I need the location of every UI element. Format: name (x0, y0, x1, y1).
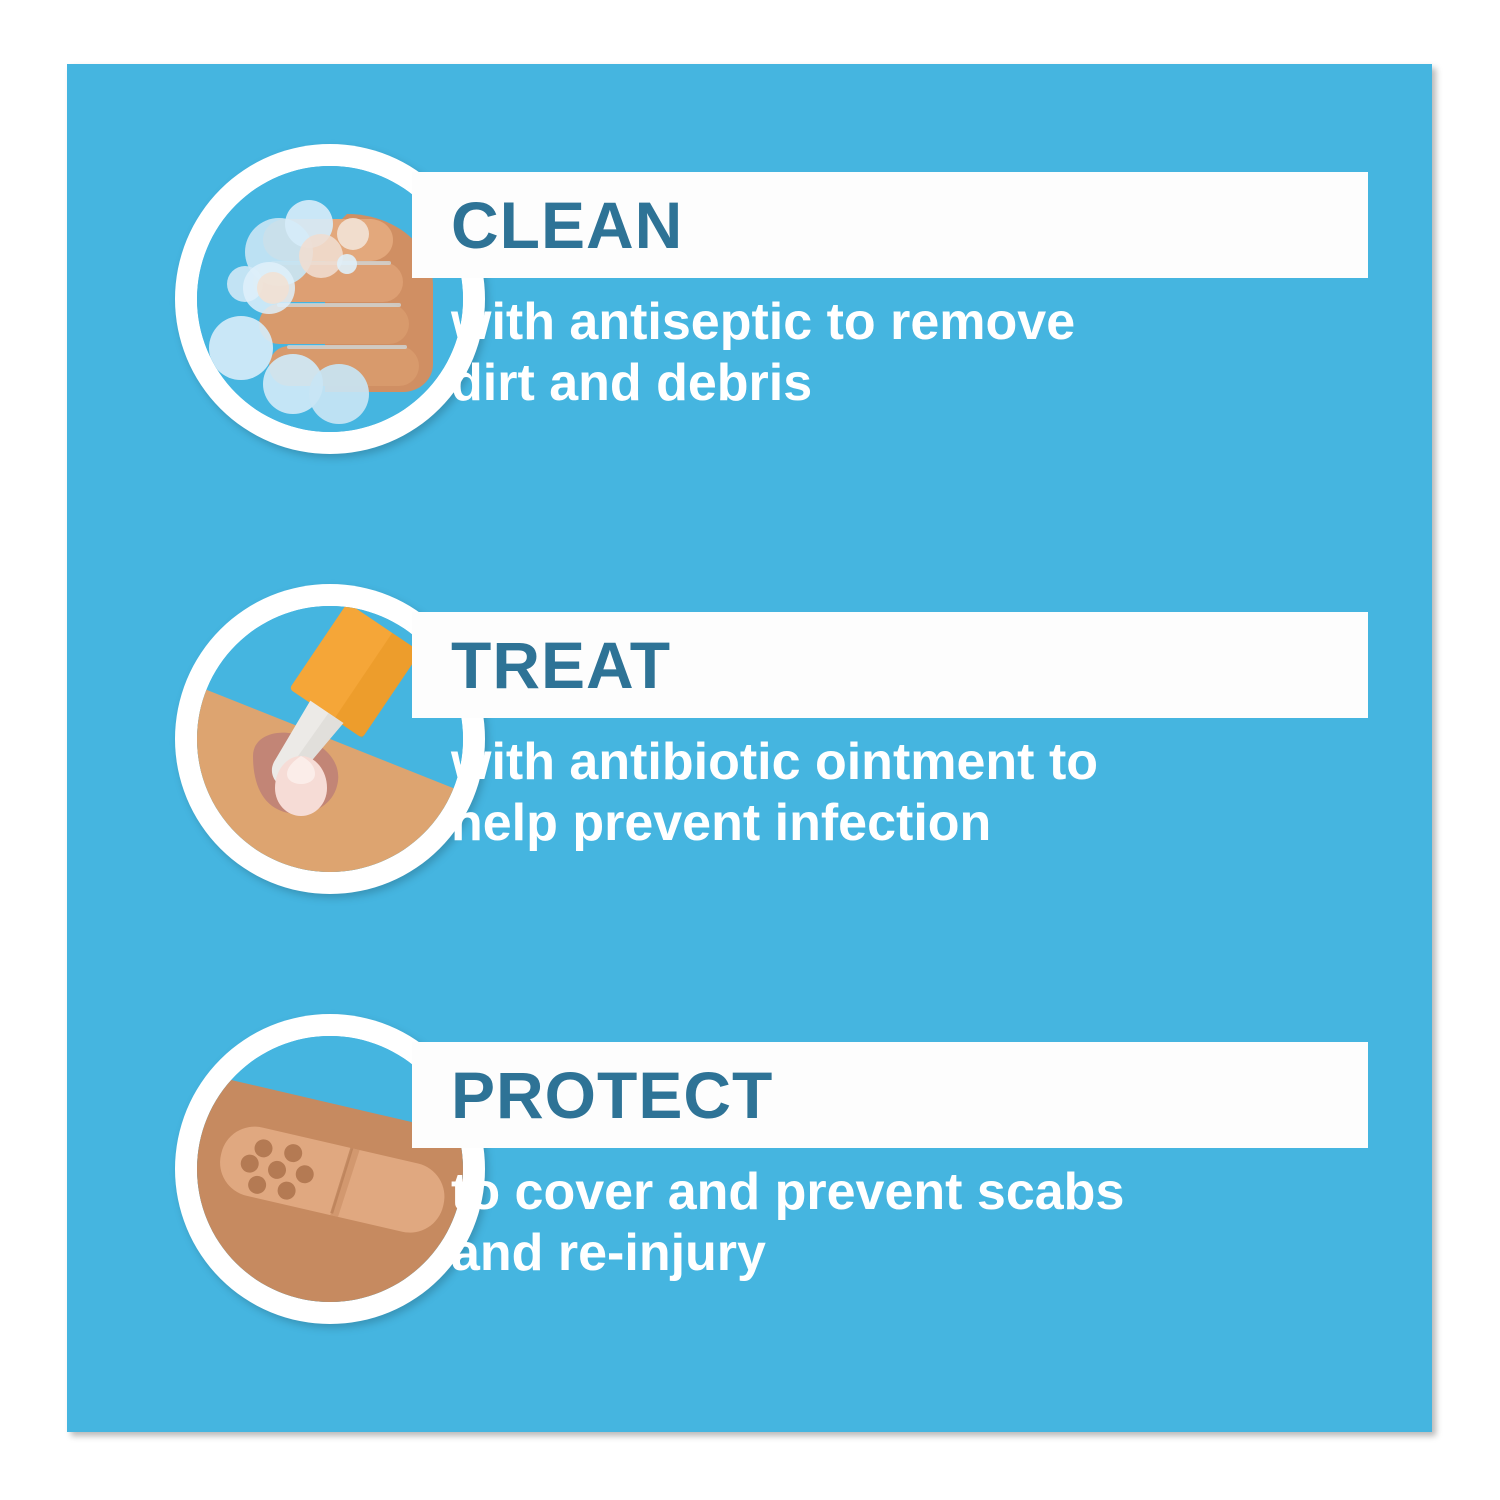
blue-panel: CLEAN with antiseptic to remove dirt and… (67, 64, 1432, 1432)
body-line-1: with antiseptic to remove (451, 292, 1351, 353)
body-line-2: help prevent infection (451, 793, 1351, 854)
title-bar-protect: PROTECT (412, 1042, 1368, 1148)
step-body-protect: to cover and prevent scabs and re-injury (451, 1162, 1351, 1285)
step-title: TREAT (451, 632, 671, 698)
body-line-1: with antibiotic ointment to (451, 732, 1351, 793)
step-title: CLEAN (451, 192, 683, 258)
infographic-canvas: CLEAN with antiseptic to remove dirt and… (0, 0, 1500, 1500)
body-line-2: and re-injury (451, 1223, 1351, 1284)
step-body-treat: with antibiotic ointment to help prevent… (451, 732, 1351, 855)
title-bar-treat: TREAT (412, 612, 1368, 718)
body-line-1: to cover and prevent scabs (451, 1162, 1351, 1223)
title-bar-clean: CLEAN (412, 172, 1368, 278)
body-line-2: dirt and debris (451, 353, 1351, 414)
step-title: PROTECT (451, 1062, 773, 1128)
step-body-clean: with antiseptic to remove dirt and debri… (451, 292, 1351, 415)
